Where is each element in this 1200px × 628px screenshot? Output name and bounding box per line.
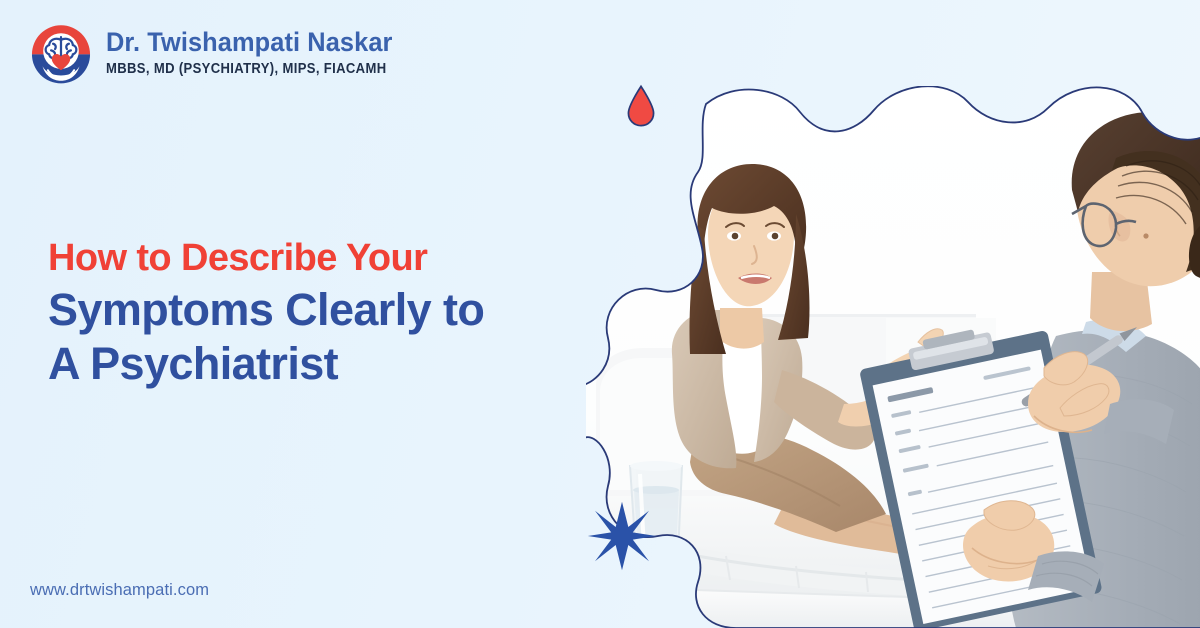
headline-line-3: A Psychiatrist: [48, 338, 608, 390]
doctor-name: Dr. Twishampati Naskar: [106, 29, 399, 56]
page-title: How to Describe Your Symptoms Clearly to…: [48, 236, 608, 390]
headline-line-1: How to Describe Your: [48, 236, 608, 280]
brand-text: Dr. Twishampati Naskar MBBS, MD (PSYCHIA…: [106, 29, 418, 77]
doctor-credentials: MBBS, MD (PSYCHIATRY), MIPS, FIACAMH: [106, 62, 386, 77]
headline-line-2: Symptoms Clearly to: [48, 284, 608, 336]
therapy-session-photo: [586, 86, 1200, 628]
brain-heart-hand-circle-logo: [28, 20, 94, 86]
red-teardrop-icon: [625, 84, 657, 128]
blue-sparkle-icon: [586, 500, 658, 572]
promo-banner: Dr. Twishampati Naskar MBBS, MD (PSYCHIA…: [0, 0, 1200, 628]
brand-logo[interactable]: Dr. Twishampati Naskar MBBS, MD (PSYCHIA…: [28, 20, 418, 86]
website-url[interactable]: www.drtwishampati.com: [30, 581, 209, 600]
